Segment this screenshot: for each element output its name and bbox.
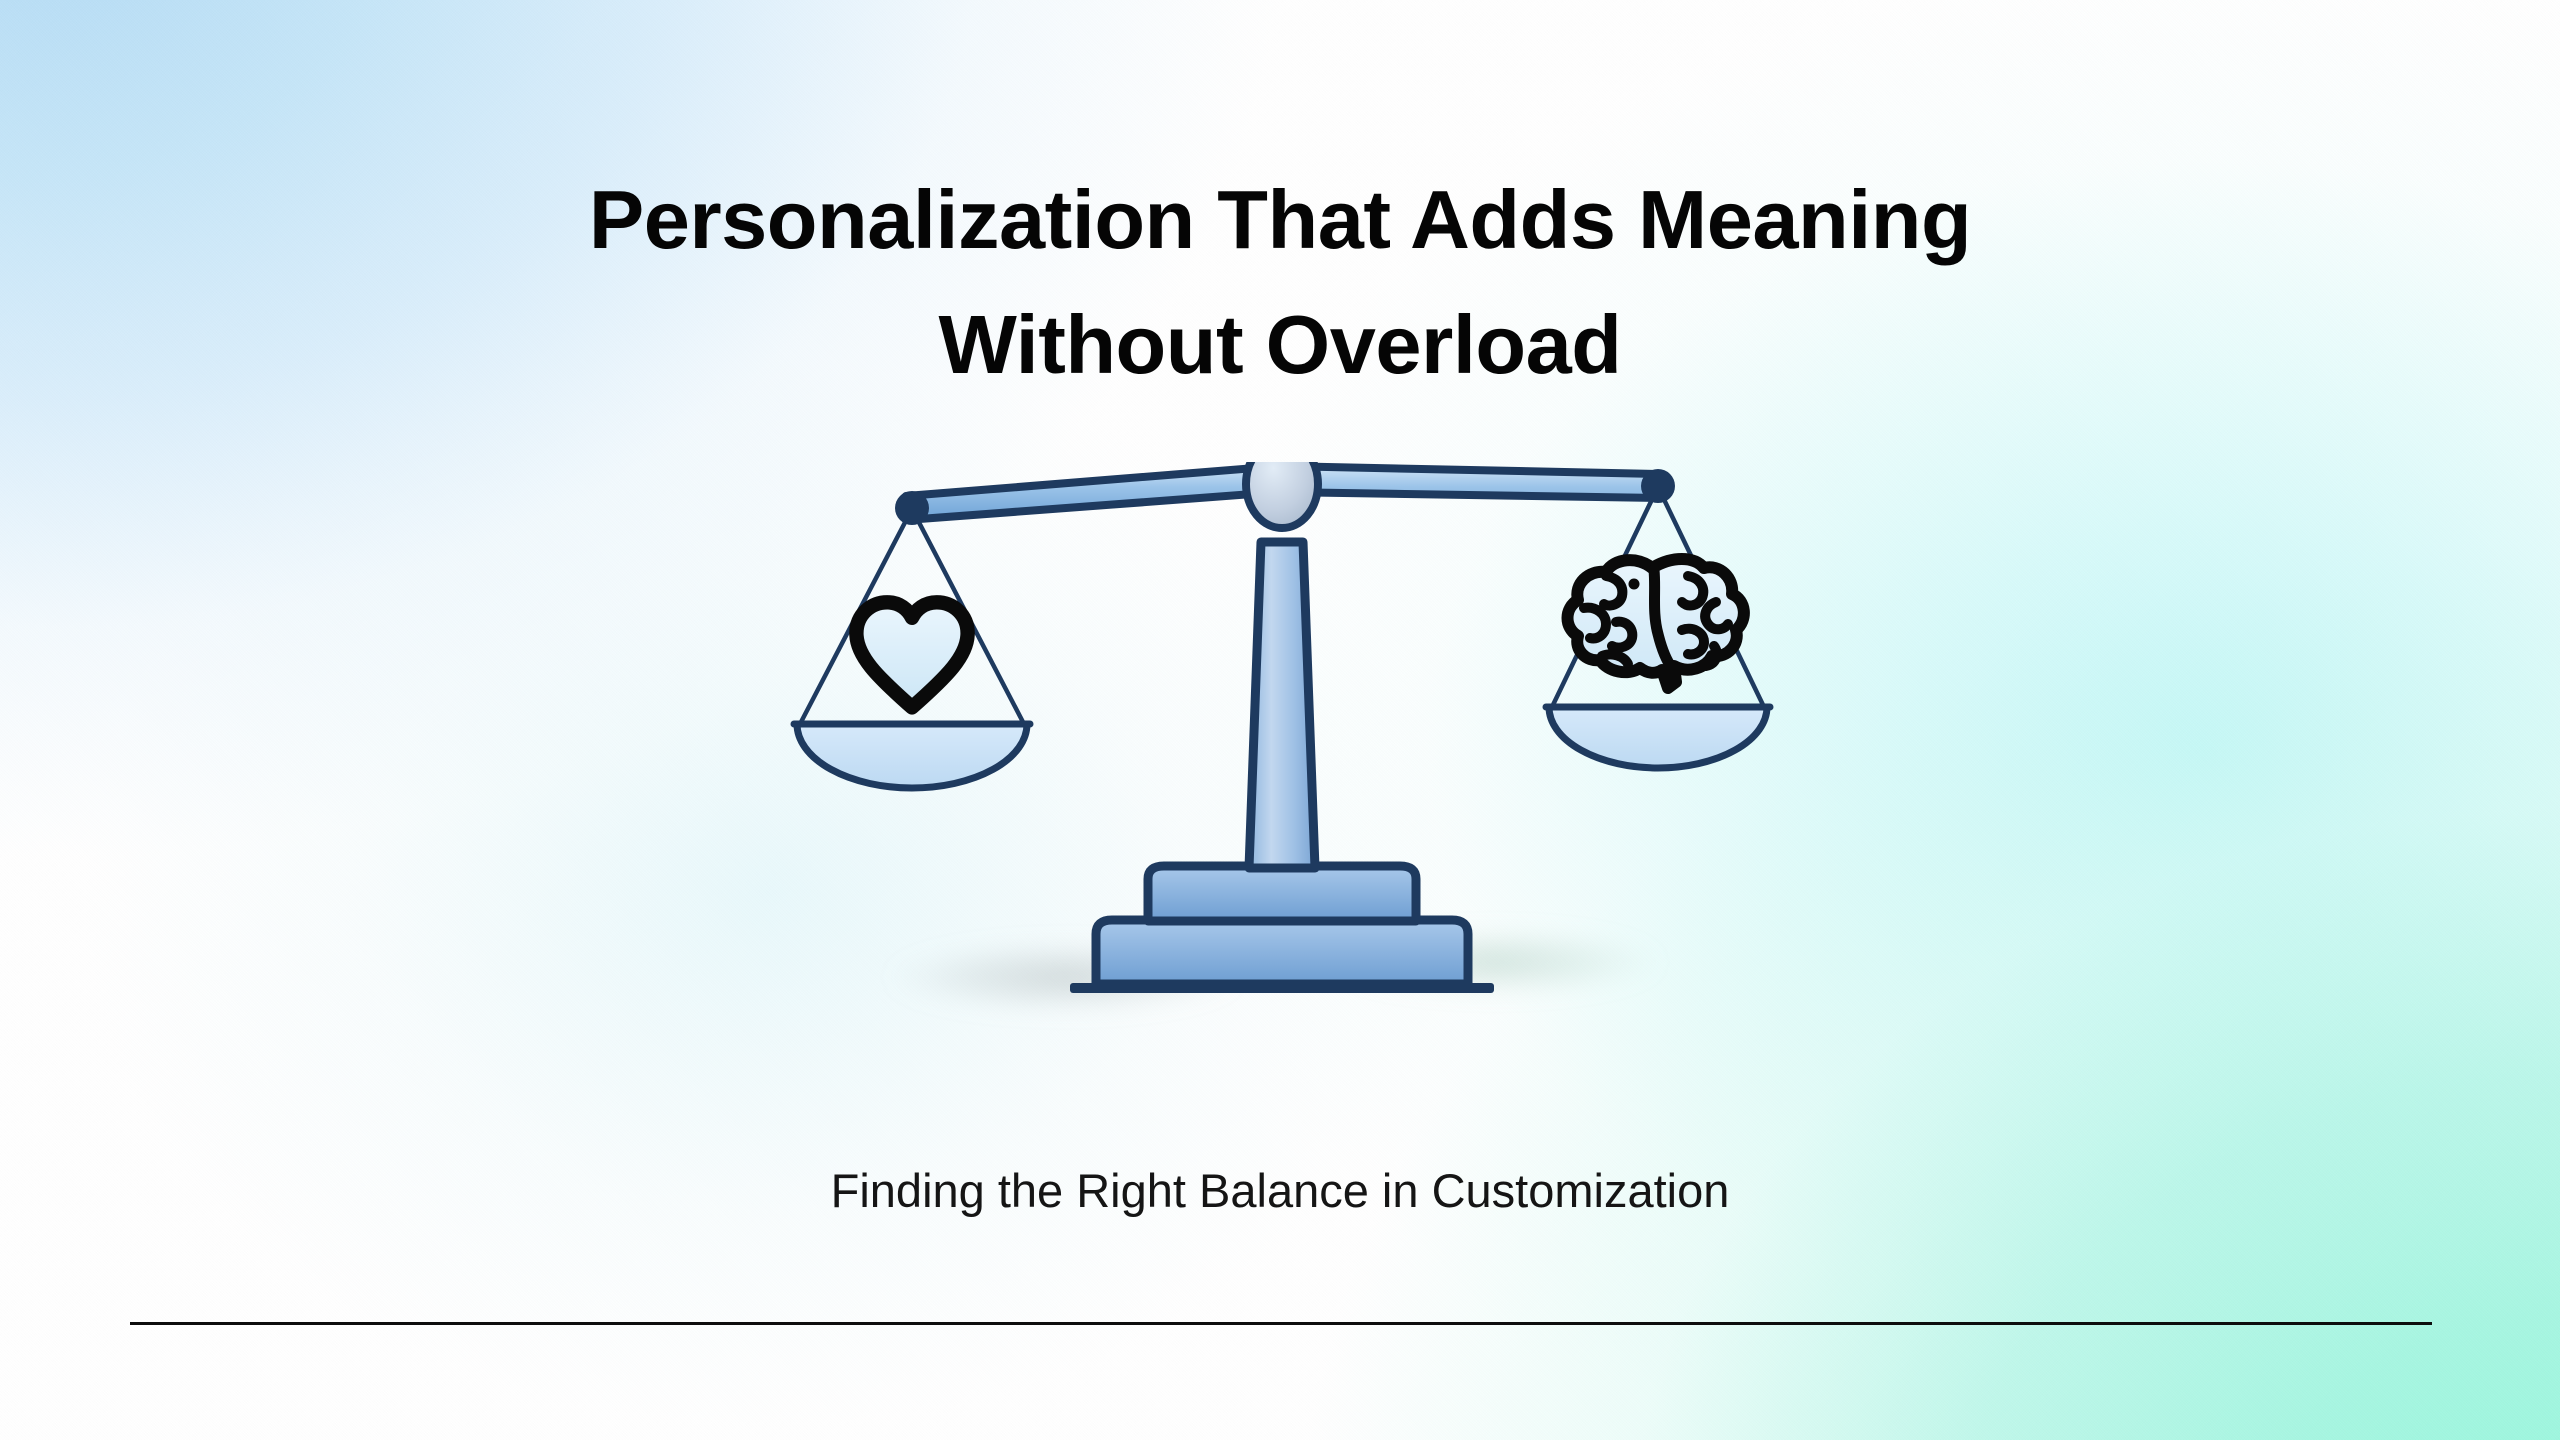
balance-scale-svg (780, 462, 1800, 1122)
left-pan (794, 724, 1030, 788)
balance-scale-illustration (780, 462, 1800, 1122)
title-line-1: Personalization That Adds Meaning (0, 178, 2560, 261)
beam-knob-left (895, 491, 929, 525)
brain-icon (1568, 559, 1744, 688)
beam-knob-right (1641, 469, 1675, 503)
bottom-divider (130, 1322, 2432, 1325)
scale-column (1249, 542, 1315, 868)
right-pan (1546, 707, 1770, 768)
scale-base (1070, 866, 1494, 993)
slide-canvas: Personalization That Adds Meaning Withou… (0, 0, 2560, 1440)
slide-subtitle: Finding the Right Balance in Customizati… (0, 1165, 2560, 1217)
title-line-2: Without Overload (0, 303, 2560, 386)
pivot-hub (1246, 462, 1318, 528)
heart-icon (856, 602, 967, 707)
slide-title: Personalization That Adds Meaning Withou… (0, 178, 2560, 386)
